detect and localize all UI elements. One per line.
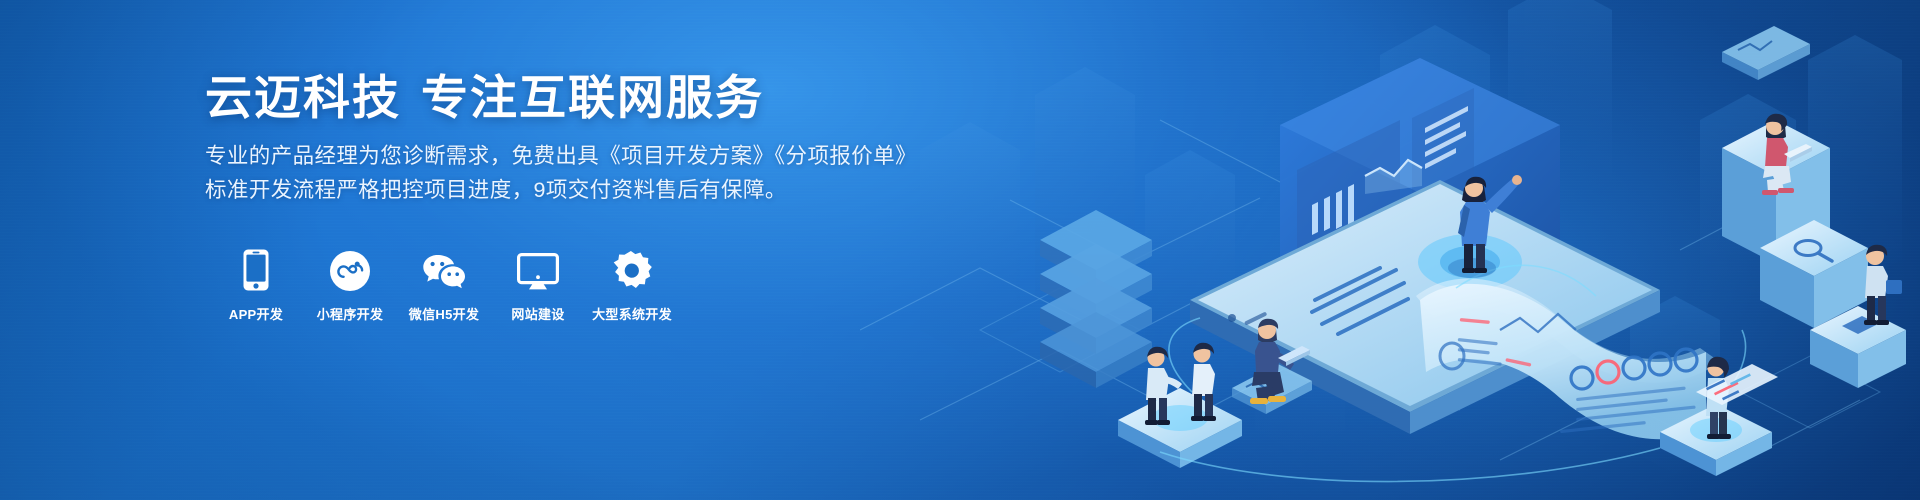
subtitle-line-2: 标准开发流程严格把控项目进度，9项交付资料售后有保障。 <box>205 173 925 207</box>
page-title: 云迈科技专注互联网服务 <box>205 70 925 125</box>
service-item-wechat-h5[interactable]: 微信H5开发 <box>407 245 481 323</box>
promo-banner: 云迈科技专注互联网服务 专业的产品经理为您诊断需求，免费出具《项目开发方案》《分… <box>0 0 1920 500</box>
subtitle-line-1: 专业的产品经理为您诊断需求，免费出具《项目开发方案》《分项报价单》 <box>205 139 925 173</box>
floating-card-top-right <box>1722 26 1810 80</box>
wechat-icon <box>421 245 467 291</box>
service-item-large-system[interactable]: 大型系统开发 <box>595 245 669 323</box>
service-label-wechat-h5: 微信H5开发 <box>409 304 479 323</box>
service-label-app: APP开发 <box>229 304 283 323</box>
mobile-phone-icon <box>243 245 269 291</box>
service-label-website: 网站建设 <box>511 304 564 323</box>
service-item-miniprogram[interactable]: 小程序开发 <box>313 245 387 323</box>
mini-program-icon <box>330 245 370 291</box>
service-label-miniprogram: 小程序开发 <box>317 304 384 323</box>
service-label-large-system: 大型系统开发 <box>592 304 672 323</box>
title-part-brand: 云迈科技 <box>205 71 401 124</box>
service-item-website[interactable]: 网站建设 <box>501 245 575 323</box>
banner-content: 云迈科技专注互联网服务 专业的产品经理为您诊断需求，免费出具《项目开发方案》《分… <box>205 70 925 323</box>
monitor-icon <box>517 245 559 291</box>
illustration-isometric-data-platform <box>860 0 1920 500</box>
gear-icon <box>611 245 653 291</box>
title-part-tagline: 专注互联网服务 <box>421 71 764 124</box>
service-item-app[interactable]: APP开发 <box>219 245 293 323</box>
service-icon-row: APP开发 小程序开发 <box>219 245 925 323</box>
server-stack <box>1040 210 1152 388</box>
